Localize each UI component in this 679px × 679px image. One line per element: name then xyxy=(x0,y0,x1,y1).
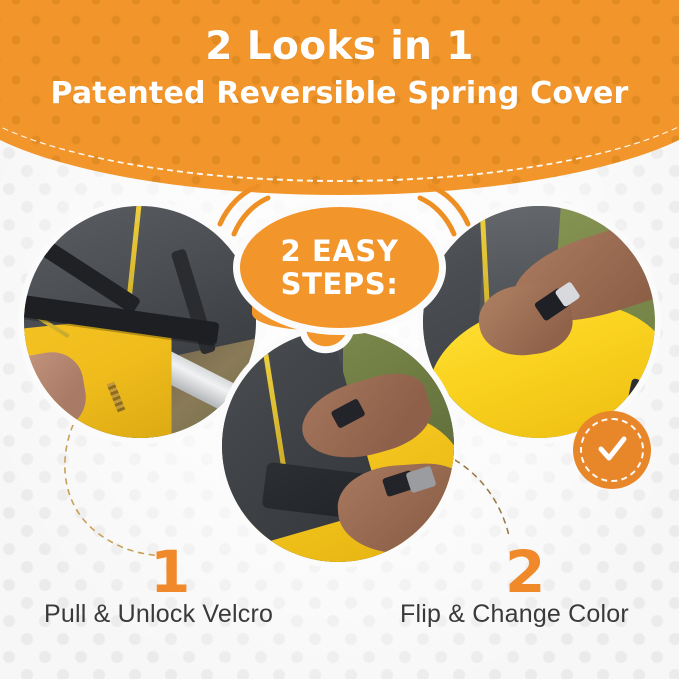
page-subtitle: Patented Reversible Spring Cover xyxy=(0,69,679,110)
callout-line-2: STEPS: xyxy=(280,268,398,300)
photo-3-scene xyxy=(423,206,655,438)
step-1-caption: Pull & Unlock Velcro xyxy=(44,600,273,629)
step-1-number: 1 xyxy=(150,543,190,601)
step-2-caption: Flip & Change Color xyxy=(400,600,629,629)
infographic-root: 2 Looks in 1 Patented Reversible Spring … xyxy=(0,0,679,679)
status-badge xyxy=(573,411,651,489)
step-2-photo-result xyxy=(423,206,655,438)
step-2-photo xyxy=(222,330,454,562)
page-title: 2 Looks in 1 xyxy=(0,0,679,69)
header-text-block: 2 Looks in 1 Patented Reversible Spring … xyxy=(0,0,679,110)
callout-line-1: 2 EASY xyxy=(280,235,398,267)
photo-2-scene xyxy=(222,330,454,562)
badge-dashed-ring xyxy=(580,418,644,482)
callout-text: 2 EASY STEPS: xyxy=(280,235,398,300)
callout-bubble: 2 EASY STEPS: xyxy=(233,200,446,335)
step-2-number: 2 xyxy=(505,543,545,601)
